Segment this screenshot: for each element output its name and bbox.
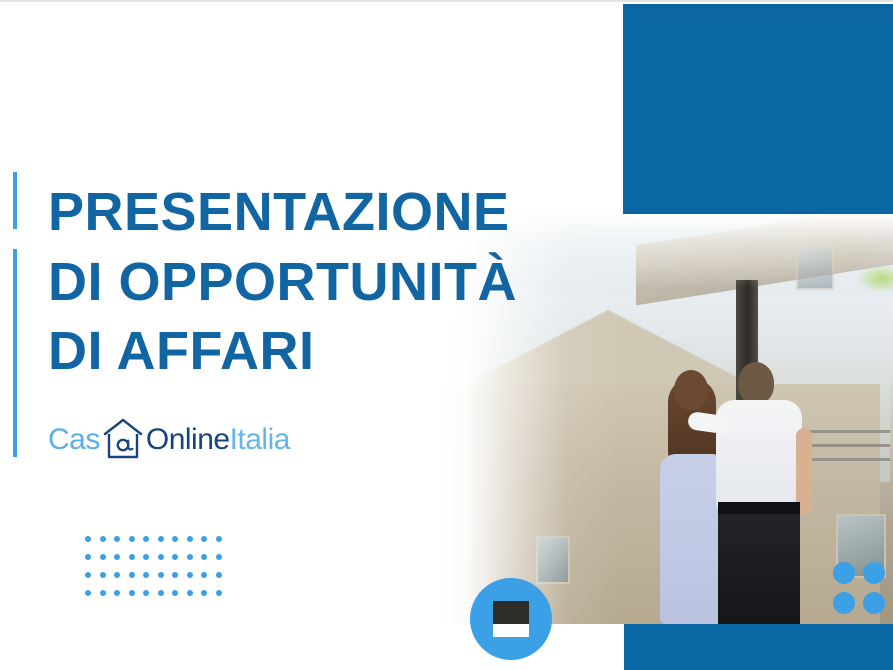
dot bbox=[129, 536, 135, 542]
dot bbox=[129, 572, 135, 578]
blue-block-top-right bbox=[623, 4, 893, 214]
dot bbox=[143, 536, 149, 542]
ring-inner-photo bbox=[493, 601, 529, 625]
accent-bar-top bbox=[13, 172, 17, 229]
dot-grid-large bbox=[833, 562, 893, 622]
dot bbox=[114, 536, 120, 542]
dot bbox=[201, 536, 207, 542]
dot bbox=[158, 572, 164, 578]
dot bbox=[100, 590, 106, 596]
dot bbox=[143, 554, 149, 560]
dot bbox=[85, 536, 91, 542]
dot bbox=[833, 562, 855, 584]
dot bbox=[216, 590, 222, 596]
dot bbox=[187, 554, 193, 560]
dot bbox=[187, 536, 193, 542]
dot bbox=[172, 590, 178, 596]
dot bbox=[216, 536, 222, 542]
dot bbox=[833, 592, 855, 614]
logo-text-italia: Italia bbox=[230, 425, 290, 455]
dot bbox=[129, 590, 135, 596]
dot bbox=[114, 572, 120, 578]
dot bbox=[201, 554, 207, 560]
dot bbox=[216, 554, 222, 560]
dot bbox=[100, 572, 106, 578]
dot bbox=[114, 590, 120, 596]
dot bbox=[100, 536, 106, 542]
accent-bar-bottom bbox=[13, 249, 17, 457]
dot bbox=[85, 554, 91, 560]
dot bbox=[114, 554, 120, 560]
dot bbox=[863, 592, 885, 614]
logo-text-cas: Cas bbox=[48, 425, 100, 455]
dot bbox=[172, 554, 178, 560]
dot bbox=[216, 572, 222, 578]
dot bbox=[201, 590, 207, 596]
dot bbox=[143, 572, 149, 578]
brand-logo[interactable]: Cas Online Italia bbox=[48, 420, 290, 460]
house-at-icon bbox=[101, 420, 145, 460]
dot bbox=[187, 590, 193, 596]
dot bbox=[158, 536, 164, 542]
dot-grid-small bbox=[85, 536, 230, 608]
dot bbox=[85, 590, 91, 596]
dot bbox=[158, 554, 164, 560]
dot bbox=[85, 572, 91, 578]
ring-inner-white bbox=[493, 624, 529, 637]
dot bbox=[129, 554, 135, 560]
blue-block-bottom-right bbox=[624, 624, 893, 670]
presentation-slide: neItalia PRESENTAZIONE DI OPPORTUNITÀ DI… bbox=[0, 0, 893, 670]
dot bbox=[143, 590, 149, 596]
dot bbox=[172, 572, 178, 578]
dot bbox=[863, 562, 885, 584]
page-title: PRESENTAZIONE DI OPPORTUNITÀ DI AFFARI bbox=[48, 178, 608, 387]
dot bbox=[100, 554, 106, 560]
dot bbox=[201, 572, 207, 578]
dot bbox=[158, 590, 164, 596]
logo-text-online: Online bbox=[146, 425, 230, 455]
dot bbox=[187, 572, 193, 578]
dot bbox=[172, 536, 178, 542]
